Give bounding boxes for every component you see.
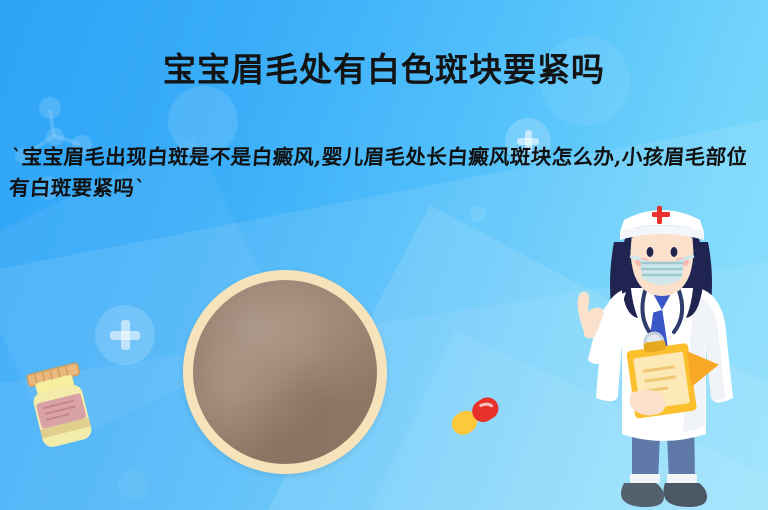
medical-cross-icon [95, 305, 155, 365]
poster-canvas: 宝宝眉毛处有白色斑块要紧吗 `宝宝眉毛出现白斑是不是白癜风,婴儿眉毛处长白癜风斑… [0, 0, 768, 510]
bokeh-circle [118, 470, 148, 500]
photo-image-area [193, 280, 377, 464]
medicine-bottle-icon [18, 362, 104, 458]
page-title: 宝宝眉毛处有白色斑块要紧吗 [0, 50, 768, 90]
bokeh-circle [470, 206, 486, 222]
female-doctor-illustration [562, 196, 762, 510]
skin-closeup-photo [183, 270, 387, 474]
page-subtitle: `宝宝眉毛出现白斑是不是白癜风,婴儿眉毛处长白癜风斑块怎么办,小孩眉毛部位有白斑… [8, 142, 756, 204]
capsule-pill-icon [443, 389, 507, 441]
